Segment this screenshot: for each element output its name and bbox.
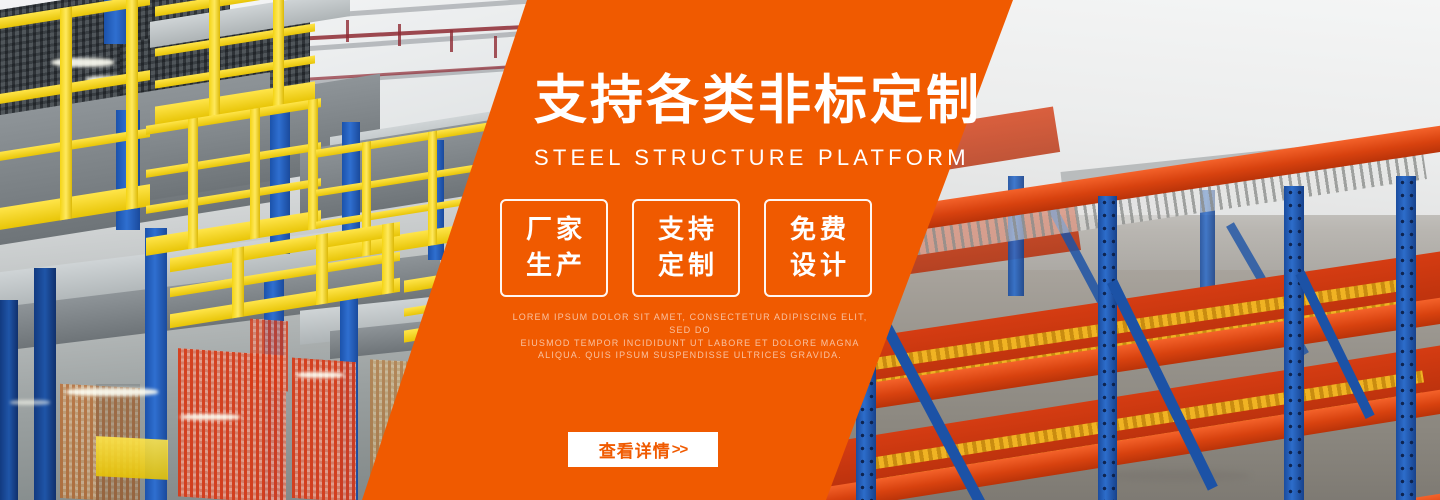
feature-badge-list: 厂家 生产 支持 定制 免费 设计 bbox=[500, 199, 872, 297]
description-line-2: eiusmod tempor incididunt ut labore et d… bbox=[500, 337, 880, 350]
badge-line-2: 设计 bbox=[786, 248, 850, 284]
chevron-right-icon: >> bbox=[672, 441, 688, 458]
badge-line-1: 免费 bbox=[786, 212, 850, 248]
page-title: 支持各类非标定制 bbox=[534, 74, 964, 127]
badge-line-2: 生产 bbox=[522, 248, 586, 284]
feature-badge-free-design: 免费 设计 bbox=[764, 199, 872, 297]
view-details-label: 查看详情 bbox=[599, 437, 671, 462]
promo-banner: 支持各类非标定制 STEEL STRUCTURE PLATFORM 厂家 生产 … bbox=[0, 0, 1440, 500]
description-line-3: aliqua. Quis ipsum suspendisse ultrices … bbox=[500, 349, 880, 362]
badge-line-1: 厂家 bbox=[522, 212, 586, 248]
description-text: Lorem ipsum dolor sit amet, consectetur … bbox=[500, 311, 880, 362]
badge-line-2: 定制 bbox=[654, 248, 718, 284]
banner-content: 支持各类非标定制 STEEL STRUCTURE PLATFORM 厂家 生产 … bbox=[0, 0, 1440, 500]
feature-badge-manufacturer: 厂家 生产 bbox=[500, 199, 608, 297]
feature-badge-customization: 支持 定制 bbox=[632, 199, 740, 297]
subtitle: STEEL STRUCTURE PLATFORM bbox=[534, 145, 970, 171]
badge-line-1: 支持 bbox=[654, 212, 718, 248]
description-line-1: Lorem ipsum dolor sit amet, consectetur … bbox=[500, 311, 880, 337]
view-details-button[interactable]: 查看详情 >> bbox=[568, 432, 718, 467]
